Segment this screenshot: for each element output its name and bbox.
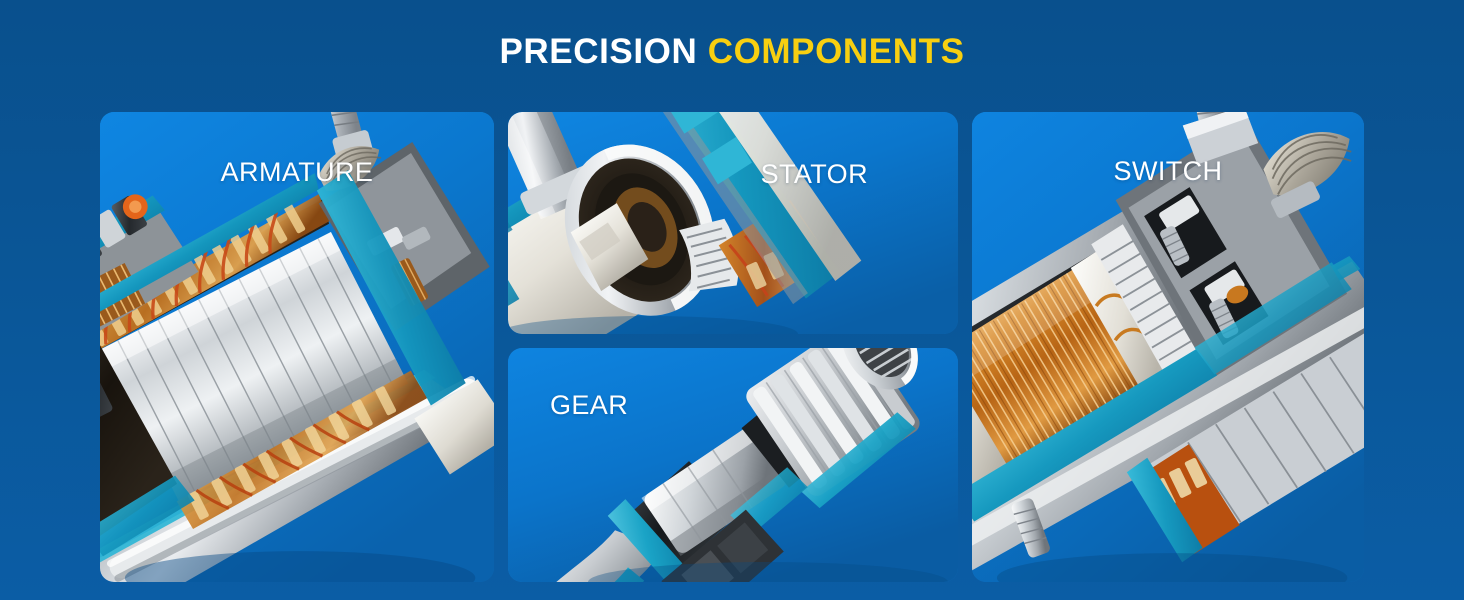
card-armature[interactable]: ARMATURE <box>100 112 494 582</box>
card-label-armature: ARMATURE <box>100 157 494 188</box>
card-switch[interactable]: SWITCH <box>972 112 1364 582</box>
component-card-grid: ARMATURE <box>100 112 1364 568</box>
card-gear[interactable]: GEAR <box>508 348 958 582</box>
card-label-gear: GEAR <box>550 390 628 421</box>
page-title-accent: COMPONENTS <box>708 32 965 71</box>
page-header: PRECISION COMPONENTS <box>0 0 1464 104</box>
card-label-switch: SWITCH <box>972 156 1364 187</box>
card-stator[interactable]: STATOR <box>508 112 958 334</box>
stator-cutaway-image <box>508 112 958 334</box>
card-label-stator: STATOR <box>761 159 868 190</box>
gear-cutaway-image <box>508 348 958 582</box>
page-title-primary: PRECISION <box>499 32 697 71</box>
page-title: PRECISION COMPONENTS <box>499 32 964 72</box>
